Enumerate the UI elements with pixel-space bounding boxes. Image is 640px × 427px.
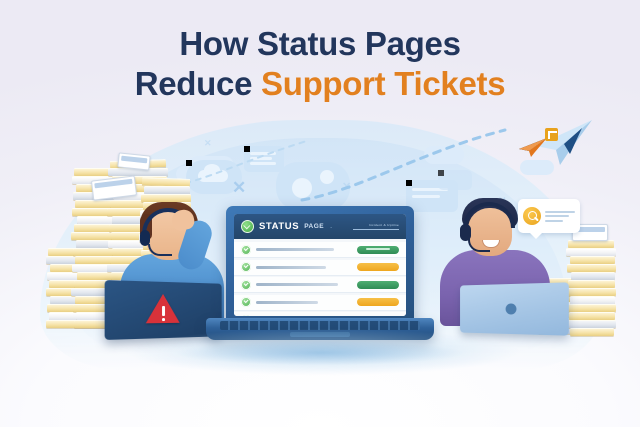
green-check-icon [241, 245, 251, 255]
status-row[interactable] [234, 295, 406, 311]
title-line-1: How Status Pages [0, 24, 640, 64]
status-page-screen[interactable]: STATUS PAGE . Incident & Uptime [234, 214, 406, 316]
green-check-icon [241, 297, 251, 307]
status-page-rows [234, 239, 406, 316]
orange-search-question-icon [523, 207, 541, 225]
support-chat-card [518, 199, 580, 233]
status-row[interactable] [234, 277, 406, 293]
service-name-bar [256, 301, 318, 304]
status-page-meta-text: Incident & Uptime [353, 223, 399, 227]
status-badge [357, 298, 399, 306]
paper-plane-icon [516, 136, 548, 158]
envelope-icon [117, 152, 150, 170]
title-line-2: Reduce Support Tickets [0, 64, 640, 104]
status-page-brand-suffix: . [330, 223, 332, 230]
service-name-bar [256, 283, 338, 286]
green-check-icon [241, 315, 251, 317]
status-badge [357, 316, 399, 317]
service-name-bar [256, 266, 326, 269]
status-page-brand-secondary: PAGE [304, 223, 324, 230]
green-check-circle-icon [241, 220, 254, 233]
status-badge [357, 281, 399, 289]
title-line-2-navy: Reduce [135, 65, 261, 102]
status-badge [357, 263, 399, 271]
warning-exclamation-dot-icon [162, 318, 165, 321]
green-check-icon [241, 262, 251, 272]
status-page-meta-rule [353, 229, 399, 230]
status-row[interactable] [234, 260, 406, 276]
center-laptop-lid: STATUS PAGE . Incident & Uptime [226, 206, 414, 322]
plane-badge-glyph [548, 131, 557, 139]
ground-shadow-core [120, 336, 520, 370]
status-badge [357, 246, 399, 254]
service-name-bar [256, 248, 334, 251]
status-row[interactable] [234, 242, 406, 258]
page-title: How Status Pages Reduce Support Tickets [0, 24, 640, 105]
chat-card-lines [545, 211, 575, 222]
warning-exclamation-icon [162, 306, 165, 316]
laptop-logo-icon [506, 303, 517, 314]
illustration-canvas: ✕ ✕ ✕ ✕ [0, 0, 640, 427]
status-row[interactable] [234, 312, 406, 316]
status-page-meta: Incident & Uptime [353, 223, 399, 230]
green-check-icon [241, 280, 251, 290]
status-page-brand-primary: STATUS [259, 221, 299, 232]
status-page-header: STATUS PAGE . Incident & Uptime [234, 214, 406, 239]
title-line-2-orange: Support Tickets [261, 65, 505, 102]
